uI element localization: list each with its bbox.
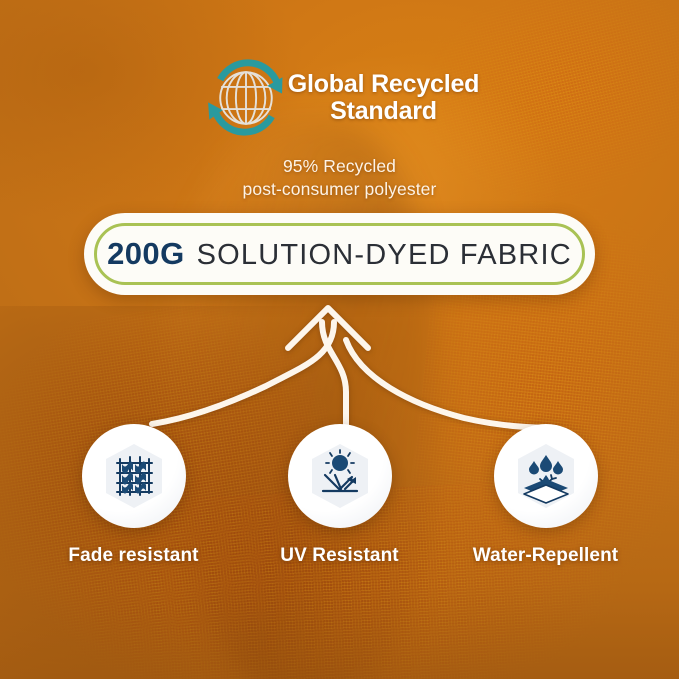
grs-title-line1: Global Recycled	[288, 72, 480, 97]
grs-title: Global Recycled Standard	[288, 72, 480, 124]
banner-text: 200G SOLUTION-DYED FABRIC	[107, 236, 572, 272]
grs-logo-row: Global Recycled Standard	[200, 52, 480, 144]
feature-label-uv: UV Resistant	[280, 545, 398, 567]
water-droplets-surface-icon	[509, 439, 583, 513]
globe-recycling-arrows-icon	[200, 52, 292, 144]
grs-subtitle: 95% Recycled post-consumer polyester	[243, 155, 437, 201]
woven-fabric-mesh-icon	[97, 439, 171, 513]
grs-title-line2: Standard	[330, 99, 437, 124]
feature-fade-resistant: Fade resistant	[64, 424, 204, 567]
feature-water-repellent: Water-Repellent	[476, 424, 616, 567]
feature-uv-resistant: UV Resistant	[270, 424, 410, 567]
feature-label-fade: Fade resistant	[68, 545, 198, 567]
feature-label-water: Water-Repellent	[473, 545, 618, 567]
grs-certification-block: Global Recycled Standard 95% Recycled po…	[0, 52, 679, 201]
feature-list: Fade resistant	[0, 424, 679, 567]
fabric-banner: 200G SOLUTION-DYED FABRIC	[84, 213, 595, 295]
infographic-canvas: Global Recycled Standard 95% Recycled po…	[0, 0, 679, 679]
banner-label: SOLUTION-DYED FABRIC	[197, 239, 572, 272]
grs-subtitle-line1: 95% Recycled	[243, 155, 437, 178]
feature-badge-uv	[288, 424, 392, 528]
banner-weight: 200G	[107, 236, 184, 272]
grs-subtitle-line2: post-consumer polyester	[243, 178, 437, 201]
feature-badge-fade	[82, 424, 186, 528]
feature-badge-water	[494, 424, 598, 528]
sun-reflect-rays-icon	[303, 439, 377, 513]
